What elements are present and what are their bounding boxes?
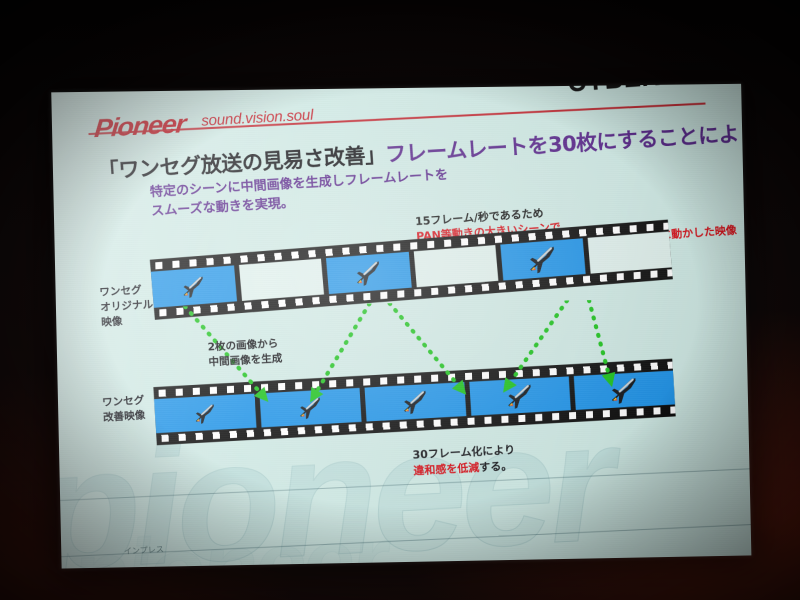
airplane-graphic <box>151 265 237 307</box>
label-improved-line2: 改善映像 <box>103 408 146 425</box>
presentation-slide: pioneer pioneer エージェント CYBER NAVI <box>51 84 751 569</box>
projection-screen-wrapper: pioneer pioneer エージェント CYBER NAVI <box>0 0 800 600</box>
annotation-improved-result: 30フレーム化により 違和感を低減する。 <box>412 442 516 479</box>
airplane-graphic <box>469 376 571 415</box>
film-frame-image <box>574 371 675 410</box>
airplane-graphic <box>326 252 411 294</box>
airplane-graphic <box>154 394 256 434</box>
credit-text: インプレス <box>124 544 165 557</box>
cyber-navi-logo: エージェント CYBER NAVI <box>543 84 731 99</box>
svg-text:pioneer: pioneer <box>70 507 396 568</box>
projection-screen: pioneer pioneer エージェント CYBER NAVI <box>51 84 751 569</box>
cyber-navi-wordmark: CYBER NAVI <box>544 84 731 99</box>
airplane-graphic <box>500 238 585 280</box>
film-frame-image <box>259 388 361 428</box>
film-frame-empty <box>413 245 498 287</box>
film-frame-image <box>151 265 237 307</box>
annotation-interp-line2: 中間画像を生成 <box>208 351 283 370</box>
filmstrip-improved <box>153 359 675 446</box>
annotation-interpolation: 2枚の画像から 中間画像を生成 <box>207 337 282 370</box>
film-frame-image <box>469 376 571 415</box>
pioneer-watermark-small: pioneer <box>70 502 694 569</box>
airplane-graphic <box>574 371 675 410</box>
label-original-video: ワンセグ オリジナル 映像 <box>99 283 155 331</box>
airplane-graphic <box>259 388 361 428</box>
annotation-result-rest: する。 <box>479 459 513 474</box>
slide-title-continuation: フレームレートを30枚にすることにより、 <box>385 120 752 167</box>
film-frame-image <box>154 394 256 434</box>
film-frame-image <box>365 382 467 421</box>
film-frame-image <box>326 252 411 294</box>
airplane-graphic <box>365 382 467 421</box>
label-original-line2: オリジナル <box>100 298 154 316</box>
pioneer-logo: Pioneer <box>93 109 186 143</box>
film-frame-image <box>500 238 585 280</box>
projection-room: pioneer pioneer エージェント CYBER NAVI <box>0 0 800 600</box>
label-original-line3: 映像 <box>101 313 155 331</box>
film-frame-empty <box>587 232 672 274</box>
watermark-rule-1 <box>51 467 751 501</box>
film-frame-empty <box>239 259 325 301</box>
filmstrip-original <box>150 220 673 320</box>
label-improved-video: ワンセグ 改善映像 <box>102 393 146 425</box>
annotation-result-highlight: 違和感を低減 <box>413 461 480 477</box>
